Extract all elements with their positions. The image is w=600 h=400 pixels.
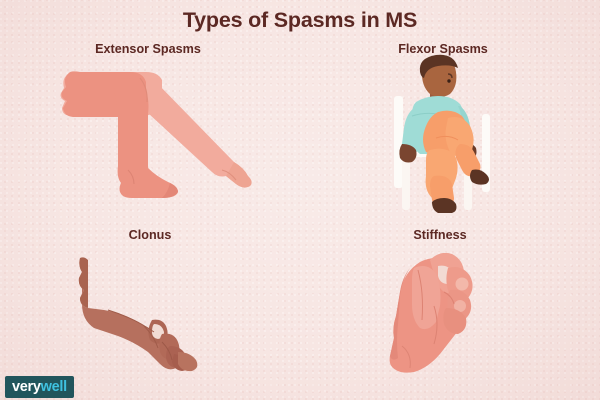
wrist-edge-shape — [79, 257, 88, 308]
panel-label-extensor-spasms: Extensor Spasms — [40, 42, 256, 56]
infographic-canvas: Types of Spasms in MS Extensor Spasms Fl… — [0, 0, 600, 400]
logo-text-well: well — [41, 380, 67, 395]
panel-label-stiffness: Stiffness — [332, 228, 548, 242]
page-title: Types of Spasms in MS — [0, 8, 600, 33]
thumb-shape — [412, 266, 441, 329]
drooping-hand-svg — [78, 248, 258, 373]
finger-middle-knuckle — [456, 278, 469, 291]
logo-text-very: very — [12, 380, 41, 395]
verywell-logo[interactable]: verywell — [5, 376, 74, 398]
panel-label-clonus: Clonus — [42, 228, 258, 242]
seated-person-svg — [386, 52, 536, 217]
legs-extended-svg — [58, 58, 258, 208]
chair-back-post — [394, 96, 403, 188]
eye-shape — [447, 79, 450, 82]
illustration-clonus-drooping-hand — [78, 248, 258, 373]
illustration-stiffness-clawed-hand — [378, 246, 518, 376]
illustration-extensor-spasms-legs — [58, 58, 258, 208]
illustration-flexor-spasms-seated-person — [386, 52, 536, 217]
clawed-hand-svg — [378, 246, 518, 376]
